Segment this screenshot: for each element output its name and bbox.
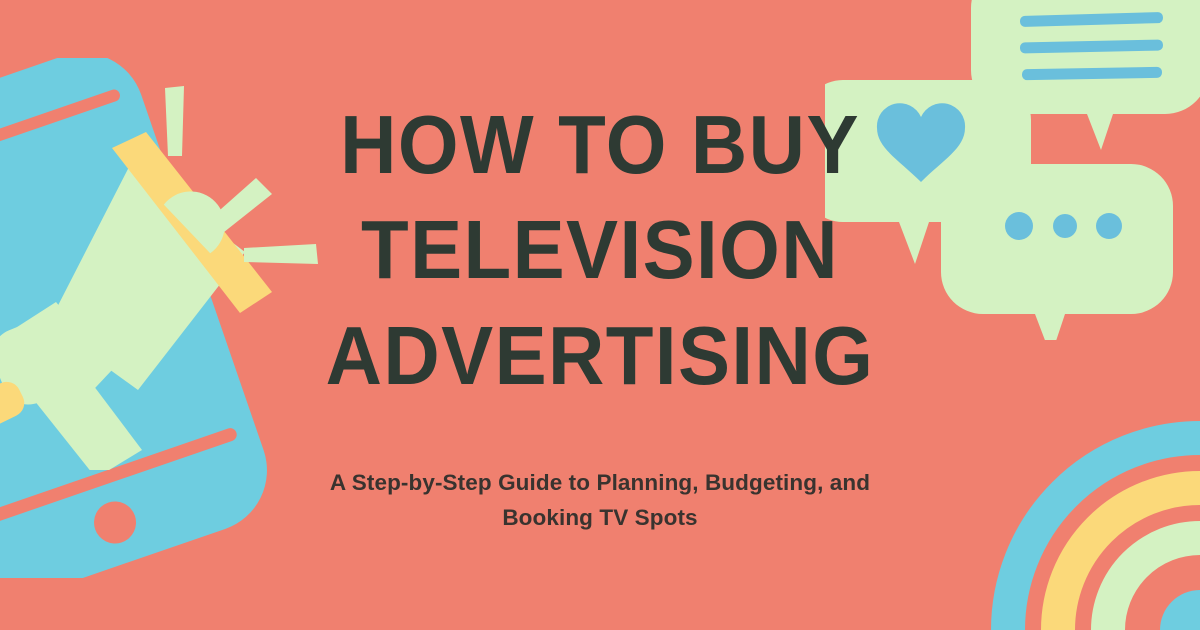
rainbow-arc-blue [1008,438,1200,630]
bubble-text-line [1022,67,1162,80]
megaphone-rim [112,132,272,313]
page-title: HOW TO BUY TELEVISION ADVERTISING [280,92,920,408]
megaphone-cone [48,165,245,390]
subtitle-line-2: Booking TV Spots [280,501,920,536]
sound-ray-vertical [165,86,184,156]
bubble-text-line [1020,39,1163,53]
megaphone-grip [0,302,112,404]
subtitle-line-1: A Step-by-Step Guide to Planning, Budget… [280,466,920,501]
title-line-2: TELEVISION [299,197,901,302]
megaphone-stem [26,365,142,470]
bubble-dot [1096,213,1122,239]
title-line-1: HOW TO BUY [299,92,901,197]
poster-canvas: HOW TO BUY TELEVISION ADVERTISING A Step… [0,0,1200,630]
smartphone-shape [0,58,290,578]
rainbow-center-dot [1160,590,1200,630]
rainbow-arcs [938,408,1200,630]
sound-burst-disc [154,184,232,255]
title-line-3: ADVERTISING [299,303,901,408]
sound-ray-diagonal [203,178,272,240]
rainbow-arc-green [1108,538,1200,630]
bubble-dot [1053,214,1077,238]
bubble-dot [1005,212,1033,240]
page-subtitle: A Step-by-Step Guide to Planning, Budget… [280,466,920,536]
bubble-text-line [1020,12,1163,27]
speech-bubble-lines [971,0,1200,150]
rainbow-arc-yellow [1058,488,1200,630]
speech-bubble-dots [941,164,1173,340]
